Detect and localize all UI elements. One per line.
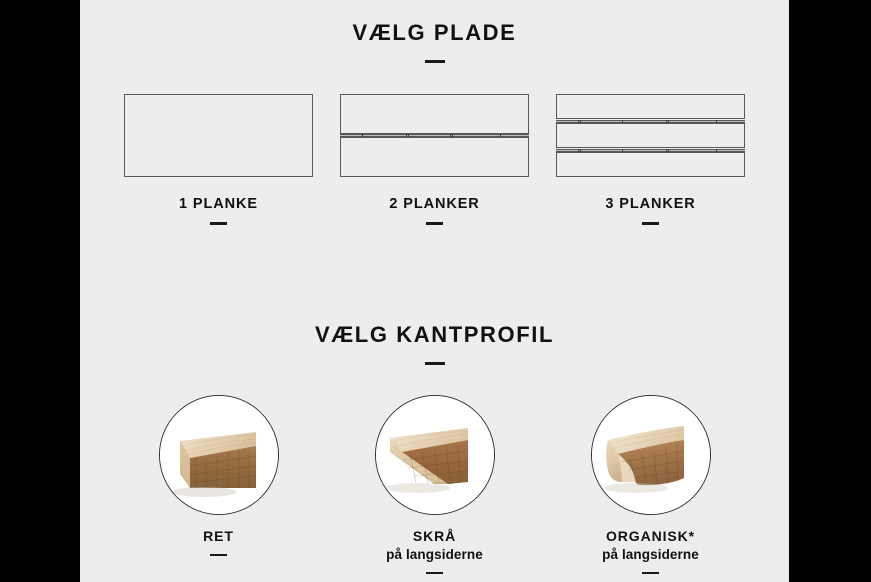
- plade-option-label: 2 PLANKER: [389, 196, 479, 212]
- kantprofil-option-dash: [642, 572, 659, 575]
- plade-diagram-1-planke: [124, 94, 313, 177]
- kantprofil-option-sublabel: på langsiderne: [602, 547, 699, 562]
- kantprofil-option-label: SKRÅ: [413, 529, 456, 544]
- kantprofil-photo-ret: [159, 395, 279, 515]
- plade-option-dash: [642, 222, 659, 225]
- plade-option-label: 1 PLANKE: [179, 196, 258, 212]
- plade-diagram-3-planker: [556, 94, 745, 177]
- kantprofil-option-dash: [210, 554, 227, 557]
- plank-bar: [340, 94, 529, 134]
- kantprofil-option-dash: [426, 572, 443, 575]
- kantprofil-photo-organisk: [591, 395, 711, 515]
- page-title-plade: VÆLG PLADE: [80, 20, 789, 46]
- wood-straight-edge-icon: [160, 396, 278, 514]
- plade-option-label: 3 PLANKER: [605, 196, 695, 212]
- plade-option-3-planker[interactable]: 3 PLANKER: [543, 94, 759, 225]
- plank-bar: [556, 123, 745, 148]
- kantprofil-options-row: RET: [80, 395, 789, 574]
- plade-option-dash: [210, 222, 227, 225]
- page-title-kantprofil: VÆLG KANTPROFIL: [80, 322, 789, 348]
- wood-organic-edge-icon: [592, 396, 710, 514]
- plank-bar: [124, 94, 313, 177]
- plade-option-2-planker[interactable]: 2 PLANKER: [327, 94, 543, 225]
- plank-bar: [556, 94, 745, 119]
- plank-bar: [556, 152, 745, 177]
- kantprofil-photo-skraa: [375, 395, 495, 515]
- plank-bar: [340, 137, 529, 177]
- title-dash-kantprofil: [425, 362, 445, 365]
- kantprofil-option-label: RET: [203, 529, 234, 544]
- kantprofil-option-ret[interactable]: RET: [111, 395, 327, 556]
- section-vaelg-plade: VÆLG PLADE 1 PLANKE: [80, 20, 789, 225]
- kantprofil-option-sublabel: på langsiderne: [386, 547, 483, 562]
- plade-option-dash: [426, 222, 443, 225]
- section-vaelg-kantprofil: VÆLG KANTPROFIL: [80, 322, 789, 574]
- title-dash-plade: [425, 60, 445, 63]
- plade-diagram-2-planker: [340, 94, 529, 177]
- plade-option-1-planke[interactable]: 1 PLANKE: [111, 94, 327, 225]
- kantprofil-option-skraa[interactable]: SKRÅ på langsiderne: [327, 395, 543, 574]
- content-panel: VÆLG PLADE 1 PLANKE: [80, 0, 789, 582]
- plade-options-row: 1 PLANKE: [80, 94, 789, 225]
- screenshot-stage: VÆLG PLADE 1 PLANKE: [0, 0, 871, 582]
- kantprofil-option-organisk[interactable]: ORGANISK* på langsiderne: [543, 395, 759, 574]
- wood-bevel-edge-icon: [376, 396, 494, 514]
- kantprofil-option-label: ORGANISK*: [606, 529, 695, 544]
